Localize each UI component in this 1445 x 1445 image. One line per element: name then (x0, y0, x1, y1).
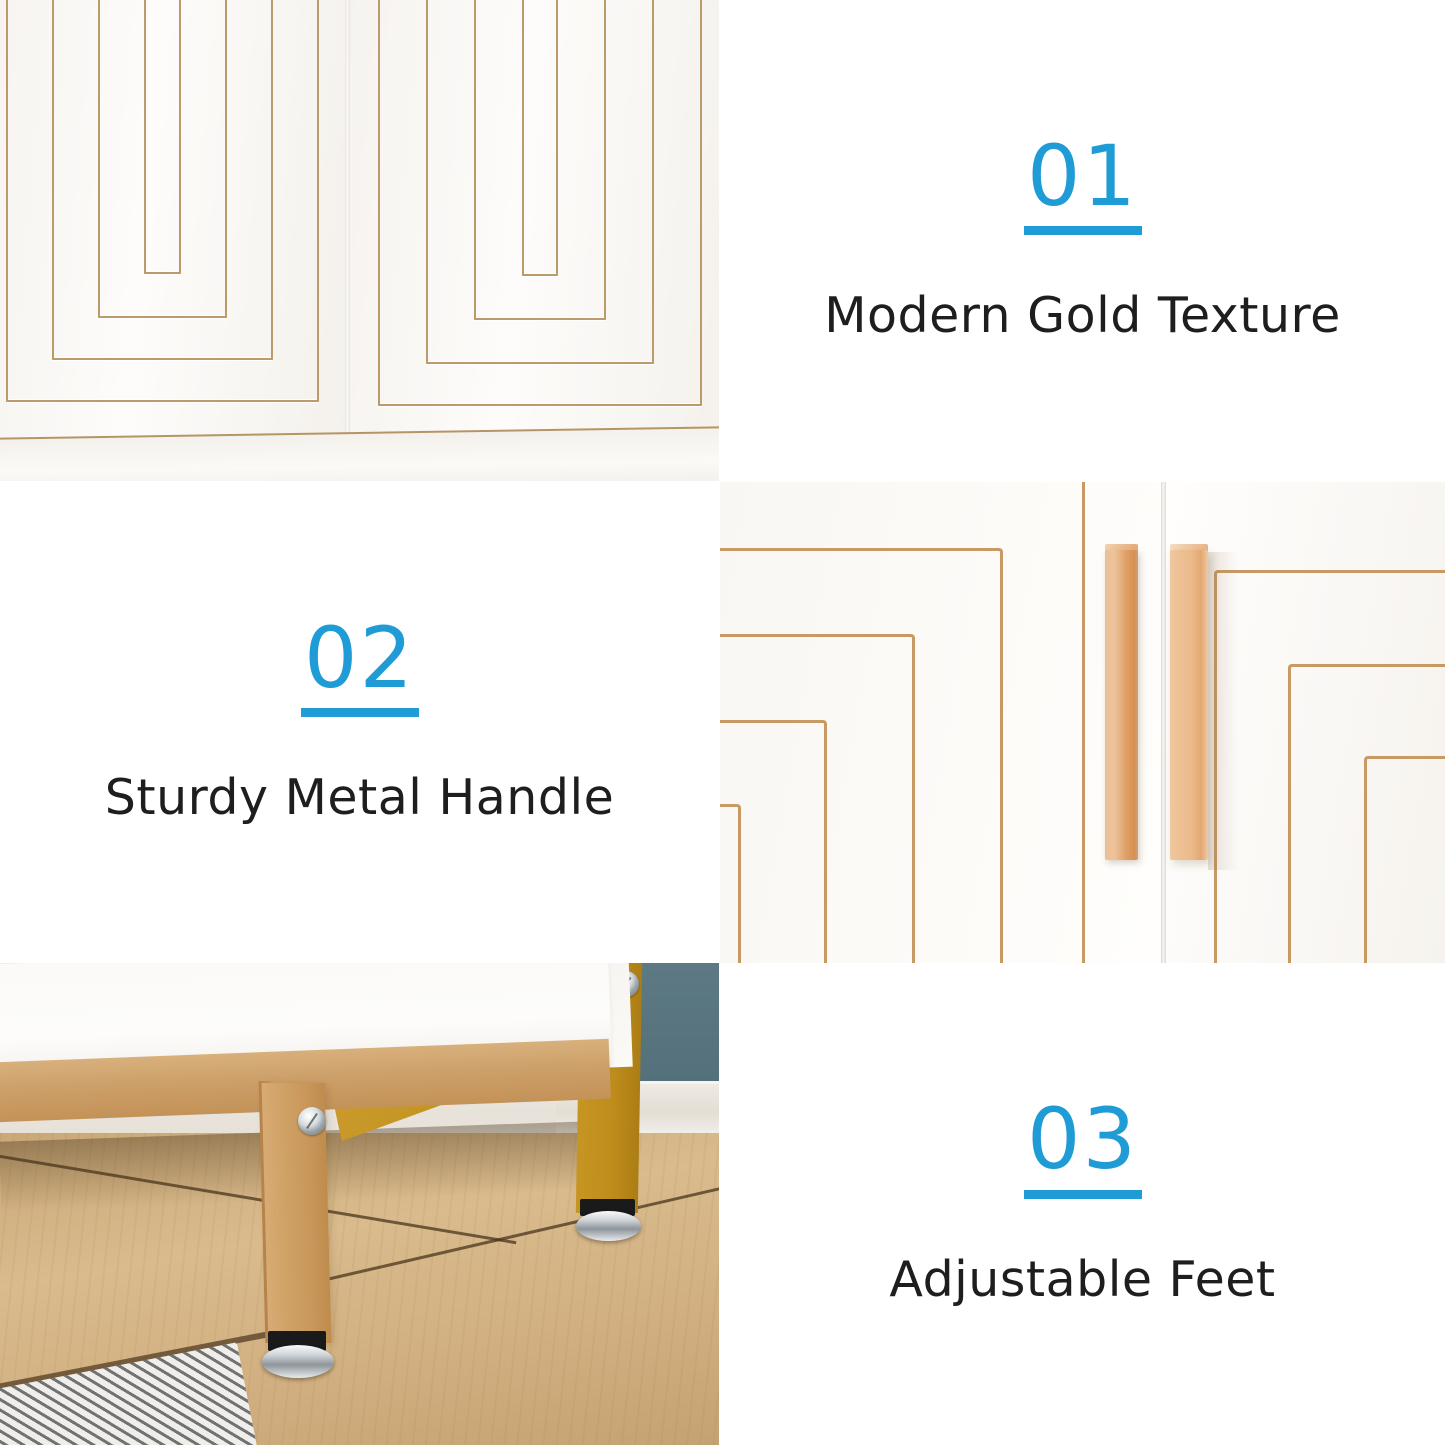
feature-title: Modern Gold Texture (824, 287, 1341, 344)
door-seam (345, 0, 350, 460)
infographic-board: 01 Modern Gold Texture 02 Sturdy Metal H… (0, 0, 1445, 1445)
gold-corner-frame (720, 804, 741, 963)
handle-bar-left[interactable] (1105, 550, 1138, 860)
adjustable-foot-pad (262, 1345, 334, 1378)
feature-block-03: 03 Adjustable Feet (720, 963, 1445, 1445)
feature-block-02: 02 Sturdy Metal Handle (0, 482, 719, 963)
gold-groove (522, 0, 558, 276)
feature-number-group: 03 (1024, 1100, 1142, 1199)
feature-block-01: 01 Modern Gold Texture (720, 0, 1445, 481)
cabinet-door-right (350, 0, 719, 460)
feature-underline (1024, 1190, 1142, 1199)
feature-title: Sturdy Metal Handle (105, 769, 614, 826)
feature-underline (1024, 226, 1142, 235)
handle-door-left (720, 482, 1160, 963)
feature-number-group: 01 (1024, 137, 1142, 236)
feature-title: Adjustable Feet (889, 1251, 1275, 1308)
adjustable-foot-pad (576, 1211, 641, 1241)
cabinet-door-left (0, 0, 345, 460)
feature-number-group: 02 (301, 619, 419, 718)
feature-number: 02 (304, 619, 415, 699)
screw-icon (298, 1107, 326, 1135)
gold-groove (144, 0, 181, 274)
feature-underline (301, 708, 419, 717)
feature-number: 03 (1027, 1100, 1138, 1180)
photo-cabinet-doors (0, 0, 719, 481)
photo-adjustable-feet (0, 963, 719, 1445)
gold-corner-frame (1364, 756, 1445, 963)
photo-metal-handle (720, 482, 1445, 963)
handle-door-seam (1161, 482, 1166, 963)
handle-bar-right[interactable] (1170, 550, 1208, 860)
handle-shadow (1208, 552, 1238, 870)
feature-number: 01 (1027, 137, 1138, 217)
